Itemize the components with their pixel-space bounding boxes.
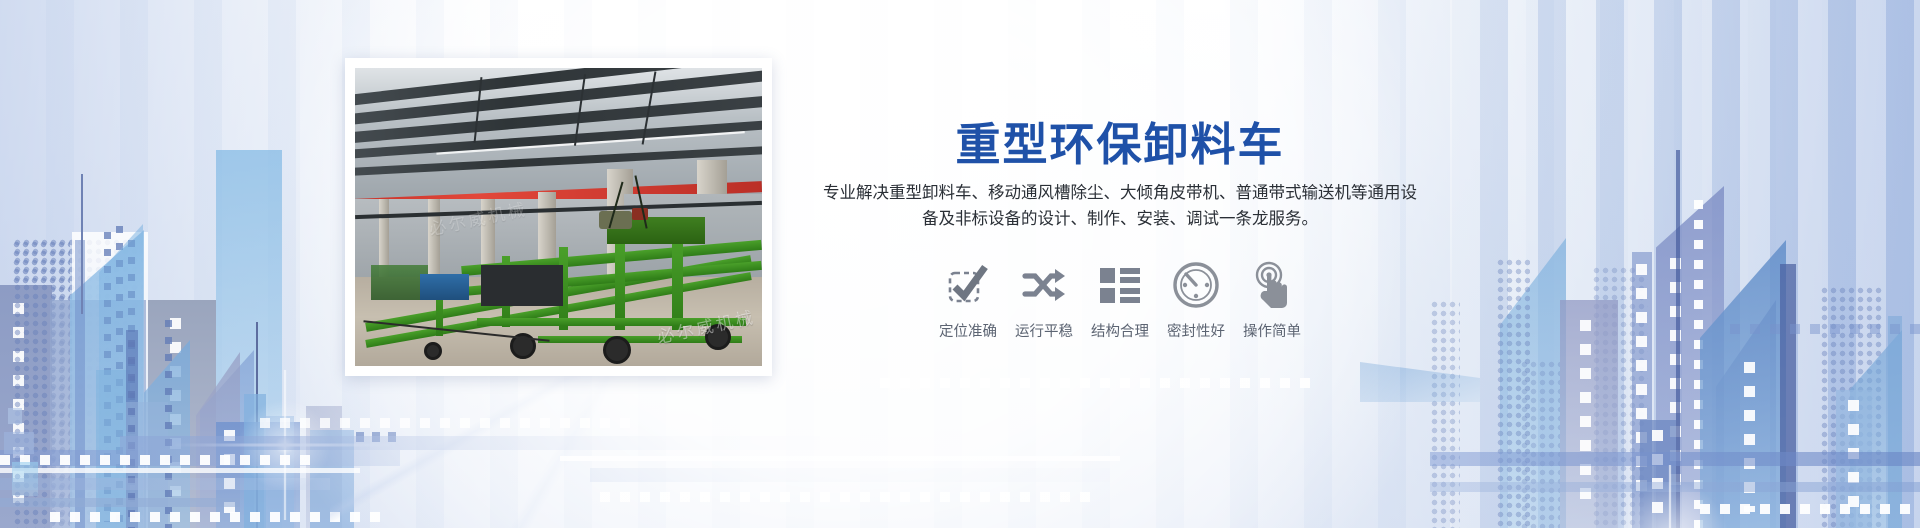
ribbon-chip — [12, 462, 38, 496]
feature-label: 操作简单 — [1243, 320, 1301, 341]
product-photo-card: 必尔威机械 必尔威机械 — [345, 58, 772, 376]
hand-tap-icon — [1249, 256, 1295, 314]
gauge-seal-icon — [1172, 256, 1220, 314]
list-blocks-icon — [1098, 256, 1142, 314]
building-dotted — [1520, 360, 1560, 528]
product-hero-banner: 必尔威机械 必尔威机械 重型环保卸料车 专业解决重型卸料车、移动通风槽除尘、大倾… — [0, 0, 1920, 528]
lens-flare — [1560, 430, 1780, 528]
photo-blue-truck — [420, 274, 469, 301]
checkbox-dashed-check-icon — [945, 256, 991, 314]
feature-item-sealing[interactable]: 密封性好 — [1158, 256, 1234, 341]
dot-row — [1730, 324, 1920, 334]
banner-description: 专业解决重型卸料车、移动通风槽除尘、大倾角皮带机、普通带式输送机等通用设备及非标… — [820, 180, 1420, 232]
feature-label: 定位准确 — [939, 320, 997, 341]
feature-item-smooth-operation[interactable]: 运行平稳 — [1006, 256, 1082, 341]
shuffle-arrows-icon — [1021, 256, 1067, 314]
feature-label: 密封性好 — [1167, 320, 1225, 341]
ribbon-chip — [8, 408, 22, 424]
feature-item-positioning[interactable]: 定位准确 — [930, 256, 1006, 341]
feature-item-structure[interactable]: 结构合理 — [1082, 256, 1158, 341]
feature-item-easy-operation[interactable]: 操作简单 — [1234, 256, 1310, 341]
ribbon-chip — [4, 432, 34, 454]
photo-dark-stock — [481, 265, 562, 307]
product-photo: 必尔威机械 必尔威机械 — [355, 68, 762, 366]
feature-list: 定位准确 运行平稳 — [830, 256, 1410, 341]
antenna-mast — [81, 174, 83, 314]
antenna — [1888, 316, 1902, 528]
banner-content: 重型环保卸料车 专业解决重型卸料车、移动通风槽除尘、大倾角皮带机、普通带式输送机… — [800, 0, 1440, 528]
page-title: 重型环保卸料车 — [800, 108, 1440, 173]
feature-label: 结构合理 — [1091, 320, 1149, 341]
dot-column — [165, 320, 175, 528]
feature-label: 运行平稳 — [1015, 320, 1073, 341]
